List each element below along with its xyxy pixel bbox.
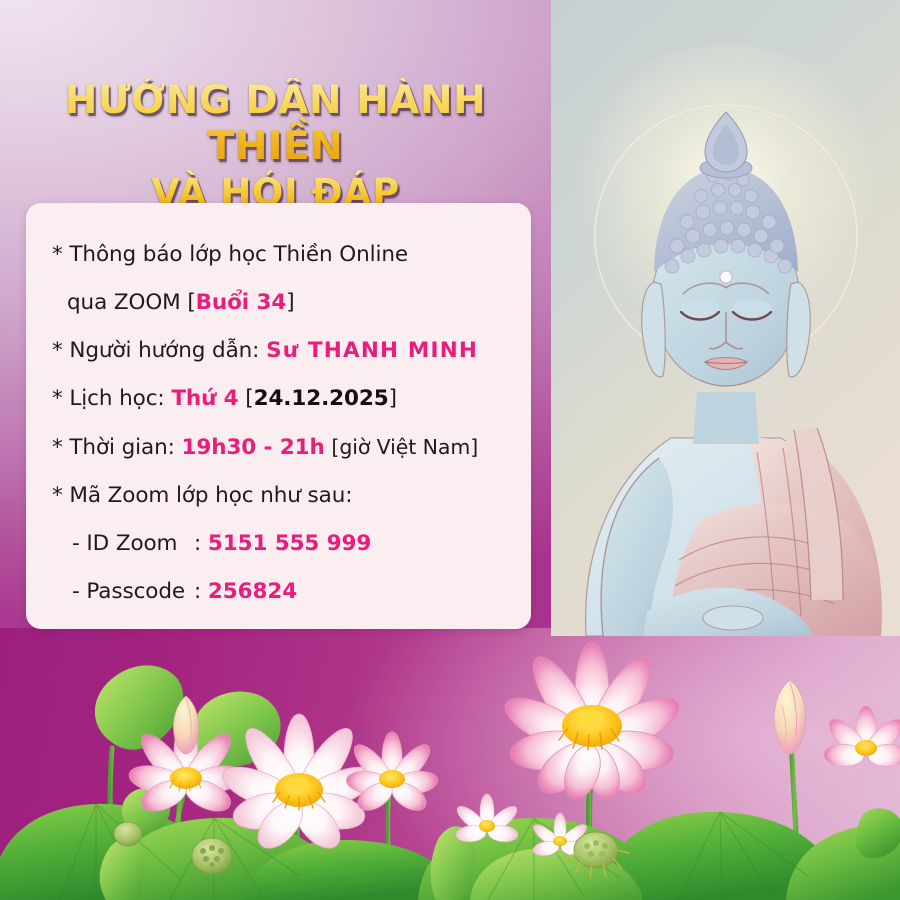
- passcode-value[interactable]: 256824: [208, 579, 297, 604]
- info-line-zoom-id: - ID Zoom: 5151 555 999: [52, 520, 505, 568]
- time-label: Thời gian:: [69, 435, 174, 460]
- lotus-bud-right: [774, 680, 806, 754]
- instructor-name: Sư THANH MINH: [266, 338, 478, 363]
- poster-title: HƯỚNG DẪN HÀNH THIỀN VÀ HỎI ĐÁP: [0, 78, 551, 216]
- info-line-zoom-heading: * Mã Zoom lớp học như sau:: [52, 472, 505, 520]
- poster-title-line-1: HƯỚNG DẪN HÀNH THIỀN: [0, 78, 551, 170]
- bullet-asterisk: *: [52, 242, 63, 267]
- lotus-flower-far-right: [824, 706, 900, 767]
- passcode-separator: :: [194, 579, 201, 604]
- passcode-label: - Passcode: [72, 568, 194, 616]
- bullet-asterisk: *: [52, 338, 63, 363]
- lotus-seed-pod-top: [114, 822, 142, 846]
- session-suffix: ]: [286, 290, 294, 315]
- announcement-text: Thông báo lớp học Thiền Online: [69, 242, 408, 267]
- schedule-date: 24.12.2025: [254, 386, 389, 411]
- schedule-label: Lịch học:: [69, 386, 164, 411]
- info-line-passcode: - Passcode: 256824: [52, 568, 505, 616]
- session-prefix: qua ZOOM [: [67, 290, 196, 315]
- lotus-flower-large-right: [498, 642, 686, 804]
- lotus-seed-pod-left: [192, 838, 232, 874]
- meditation-class-announcement-poster: HƯỚNG DẪN HÀNH THIỀN VÀ HỎI ĐÁP * Thông …: [0, 0, 900, 900]
- lotus-flowers-icon: [0, 628, 900, 900]
- schedule-weekday: Thứ 4: [171, 386, 238, 411]
- info-line-session: qua ZOOM [Buổi 34]: [52, 279, 505, 327]
- lotus-decoration-band: [0, 628, 900, 900]
- instructor-label: Người hướng dẫn:: [69, 338, 259, 363]
- bullet-asterisk: *: [52, 435, 63, 460]
- info-line-time: * Thời gian: 19h30 - 21h [giờ Việt Nam]: [52, 423, 505, 472]
- zoom-id-value[interactable]: 5151 555 999: [208, 531, 371, 556]
- bracket-open: [: [245, 386, 253, 411]
- info-line-instructor: * Người hướng dẫn: Sư THANH MINH: [52, 327, 505, 375]
- class-info-card: * Thông báo lớp học Thiền Online qua ZOO…: [26, 203, 531, 629]
- buddha-image-panel: [551, 0, 900, 636]
- bracket-close: ]: [389, 386, 397, 411]
- session-number: Buổi 34: [196, 290, 287, 315]
- buddha-illustration-icon: [551, 0, 900, 636]
- info-line-announcement: * Thông báo lớp học Thiền Online: [52, 231, 505, 279]
- bullet-asterisk: *: [52, 386, 63, 411]
- zoom-id-separator: :: [194, 531, 201, 556]
- zoom-heading-text: Mã Zoom lớp học như sau:: [69, 483, 352, 508]
- bullet-asterisk: *: [52, 483, 63, 508]
- timezone-note: [giờ Việt Nam]: [331, 435, 478, 459]
- zoom-id-label: - ID Zoom: [72, 520, 194, 568]
- info-line-schedule: * Lịch học: Thứ 4 [24.12.2025]: [52, 375, 505, 423]
- lotus-flower-small-mid: [345, 732, 439, 816]
- time-value: 19h30 - 21h: [182, 435, 325, 460]
